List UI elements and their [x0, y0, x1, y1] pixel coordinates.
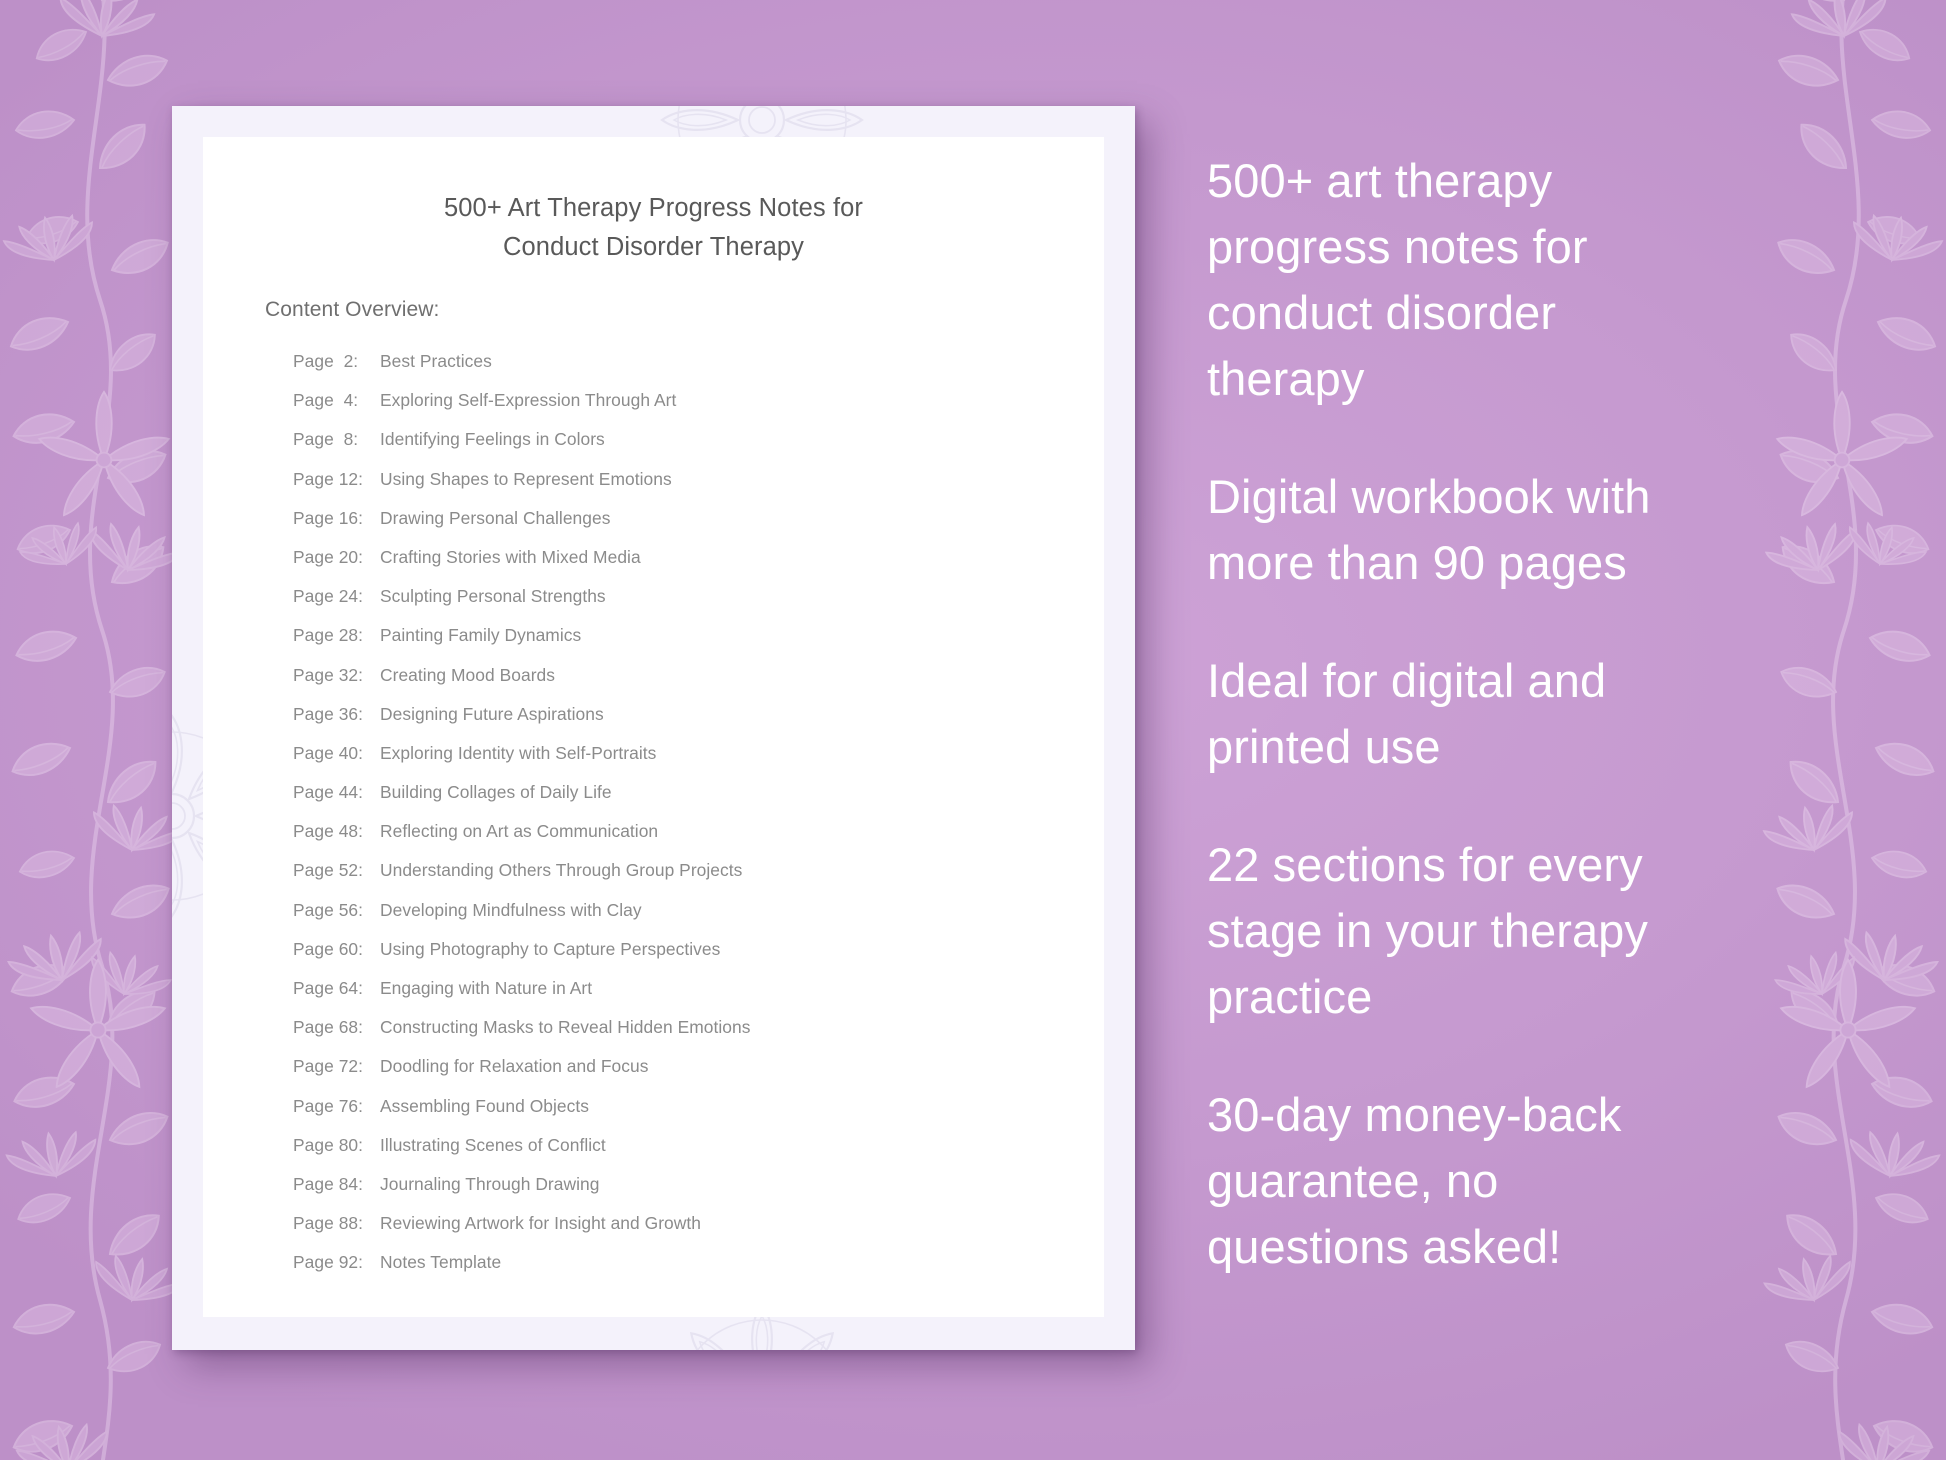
- toc-entry: Page 2:Best Practices: [293, 351, 1083, 390]
- marketing-block: Ideal for digital and printed use: [1207, 648, 1827, 780]
- toc-entry: Page 40:Exploring Identity with Self-Por…: [293, 743, 1083, 782]
- marketing-block: 22 sections for every stage in your ther…: [1207, 832, 1827, 1030]
- toc-entry: Page 20:Crafting Stories with Mixed Medi…: [293, 547, 1083, 586]
- page-title: 500+ Art Therapy Progress Notes for Cond…: [263, 189, 1044, 267]
- toc-entry: Page 68:Constructing Masks to Reveal Hid…: [293, 1017, 1083, 1056]
- toc-entry-title: Using Photography to Capture Perspective…: [369, 939, 1083, 960]
- toc-entry-page: Page 72:: [293, 1056, 369, 1077]
- toc-entry: Page 72:Doodling for Relaxation and Focu…: [293, 1056, 1083, 1095]
- toc-entry-page: Page 52:: [293, 860, 369, 881]
- toc-entry: Page 88:Reviewing Artwork for Insight an…: [293, 1213, 1083, 1252]
- toc-entry: Page 16:Drawing Personal Challenges: [293, 508, 1083, 547]
- toc-entry-page: Page 24:: [293, 586, 369, 607]
- toc-entry-page: Page 84:: [293, 1174, 369, 1195]
- toc-entry-page: Page 12:: [293, 469, 369, 490]
- toc-entry: Page 12:Using Shapes to Represent Emotio…: [293, 469, 1083, 508]
- toc-entry-page: Page 56:: [293, 900, 369, 921]
- toc-entry-page: Page 32:: [293, 665, 369, 686]
- toc-entry: Page 36:Designing Future Aspirations: [293, 704, 1083, 743]
- toc-entry-title: Identifying Feelings in Colors: [369, 429, 1083, 450]
- toc-entry-title: Doodling for Relaxation and Focus: [369, 1056, 1083, 1077]
- toc-entry-page: Page 64:: [293, 978, 369, 999]
- toc-entry-title: Painting Family Dynamics: [369, 625, 1083, 646]
- toc-entry: Page 4:Exploring Self-Expression Through…: [293, 390, 1083, 429]
- toc-entry: Page 52:Understanding Others Through Gro…: [293, 860, 1083, 899]
- toc-entry-title: Illustrating Scenes of Conflict: [369, 1135, 1083, 1156]
- toc-entry-page: Page 88:: [293, 1213, 369, 1234]
- toc-entry: Page 80:Illustrating Scenes of Conflict: [293, 1135, 1083, 1174]
- document-page: 500+ Art Therapy Progress Notes for Cond…: [203, 137, 1104, 1317]
- toc-entry: Page 32:Creating Mood Boards: [293, 665, 1083, 704]
- toc-entry-page: Page 40:: [293, 743, 369, 764]
- toc-entry: Page 8:Identifying Feelings in Colors: [293, 429, 1083, 468]
- toc-entry: Page 44:Building Collages of Daily Life: [293, 782, 1083, 821]
- toc-entry: Page 28:Painting Family Dynamics: [293, 625, 1083, 664]
- content-overview-label: Content Overview:: [265, 298, 439, 322]
- toc-entry-title: Reflecting on Art as Communication: [369, 821, 1083, 842]
- toc-entry: Page 60:Using Photography to Capture Per…: [293, 939, 1083, 978]
- toc-entry-page: Page 16:: [293, 508, 369, 529]
- toc-entry-title: Exploring Identity with Self-Portraits: [369, 743, 1083, 764]
- toc-entry-title: Building Collages of Daily Life: [369, 782, 1083, 803]
- toc-entry-title: Crafting Stories with Mixed Media: [369, 547, 1083, 568]
- toc-entry: Page 92:Notes Template: [293, 1252, 1083, 1291]
- toc-entry-page: Page 8:: [293, 429, 369, 450]
- toc-entry-title: Sculpting Personal Strengths: [369, 586, 1083, 607]
- toc-entry-title: Creating Mood Boards: [369, 665, 1083, 686]
- toc-entry: Page 76:Assembling Found Objects: [293, 1096, 1083, 1135]
- marketing-copy: 500+ art therapy progress notes for cond…: [1207, 148, 1827, 1280]
- toc-entry-page: Page 60:: [293, 939, 369, 960]
- marketing-block: 30-day money-back guarantee, no question…: [1207, 1082, 1827, 1280]
- toc-entry-title: Assembling Found Objects: [369, 1096, 1083, 1117]
- toc-entry-title: Understanding Others Through Group Proje…: [369, 860, 1083, 881]
- toc-entry-title: Constructing Masks to Reveal Hidden Emot…: [369, 1017, 1083, 1038]
- toc-entry-title: Engaging with Nature in Art: [369, 978, 1083, 999]
- toc-entry-title: Journaling Through Drawing: [369, 1174, 1083, 1195]
- toc-entry-title: Designing Future Aspirations: [369, 704, 1083, 725]
- toc-entry-page: Page 4:: [293, 390, 369, 411]
- toc-entry-page: Page 48:: [293, 821, 369, 842]
- toc-entry-page: Page 36:: [293, 704, 369, 725]
- toc-entry-title: Developing Mindfulness with Clay: [369, 900, 1083, 921]
- document-card: 500+ Art Therapy Progress Notes for Cond…: [172, 106, 1135, 1350]
- toc-entry-title: Reviewing Artwork for Insight and Growth: [369, 1213, 1083, 1234]
- toc-entry: Page 56:Developing Mindfulness with Clay: [293, 900, 1083, 939]
- marketing-block: Digital workbook with more than 90 pages: [1207, 464, 1827, 596]
- toc-entry-title: Best Practices: [369, 351, 1083, 372]
- toc-entry-page: Page 2:: [293, 351, 369, 372]
- toc-entry-title: Drawing Personal Challenges: [369, 508, 1083, 529]
- toc-entry: Page 84:Journaling Through Drawing: [293, 1174, 1083, 1213]
- toc-entry-page: Page 28:: [293, 625, 369, 646]
- toc-entry-page: Page 20:: [293, 547, 369, 568]
- toc-entry: Page 64:Engaging with Nature in Art: [293, 978, 1083, 1017]
- toc-entry: Page 48:Reflecting on Art as Communicati…: [293, 821, 1083, 860]
- promo-graphic: 500+ Art Therapy Progress Notes for Cond…: [0, 0, 1946, 1460]
- toc-entry: Page 24:Sculpting Personal Strengths: [293, 586, 1083, 625]
- toc-entry-page: Page 76:: [293, 1096, 369, 1117]
- toc-entry-page: Page 92:: [293, 1252, 369, 1273]
- toc-entry-page: Page 80:: [293, 1135, 369, 1156]
- toc-entry-title: Notes Template: [369, 1252, 1083, 1273]
- toc-entry-title: Using Shapes to Represent Emotions: [369, 469, 1083, 490]
- toc-entry-page: Page 68:: [293, 1017, 369, 1038]
- marketing-block: 500+ art therapy progress notes for cond…: [1207, 148, 1827, 412]
- table-of-contents: Page 2:Best PracticesPage 4:Exploring Se…: [293, 351, 1083, 1292]
- toc-entry-title: Exploring Self-Expression Through Art: [369, 390, 1083, 411]
- toc-entry-page: Page 44:: [293, 782, 369, 803]
